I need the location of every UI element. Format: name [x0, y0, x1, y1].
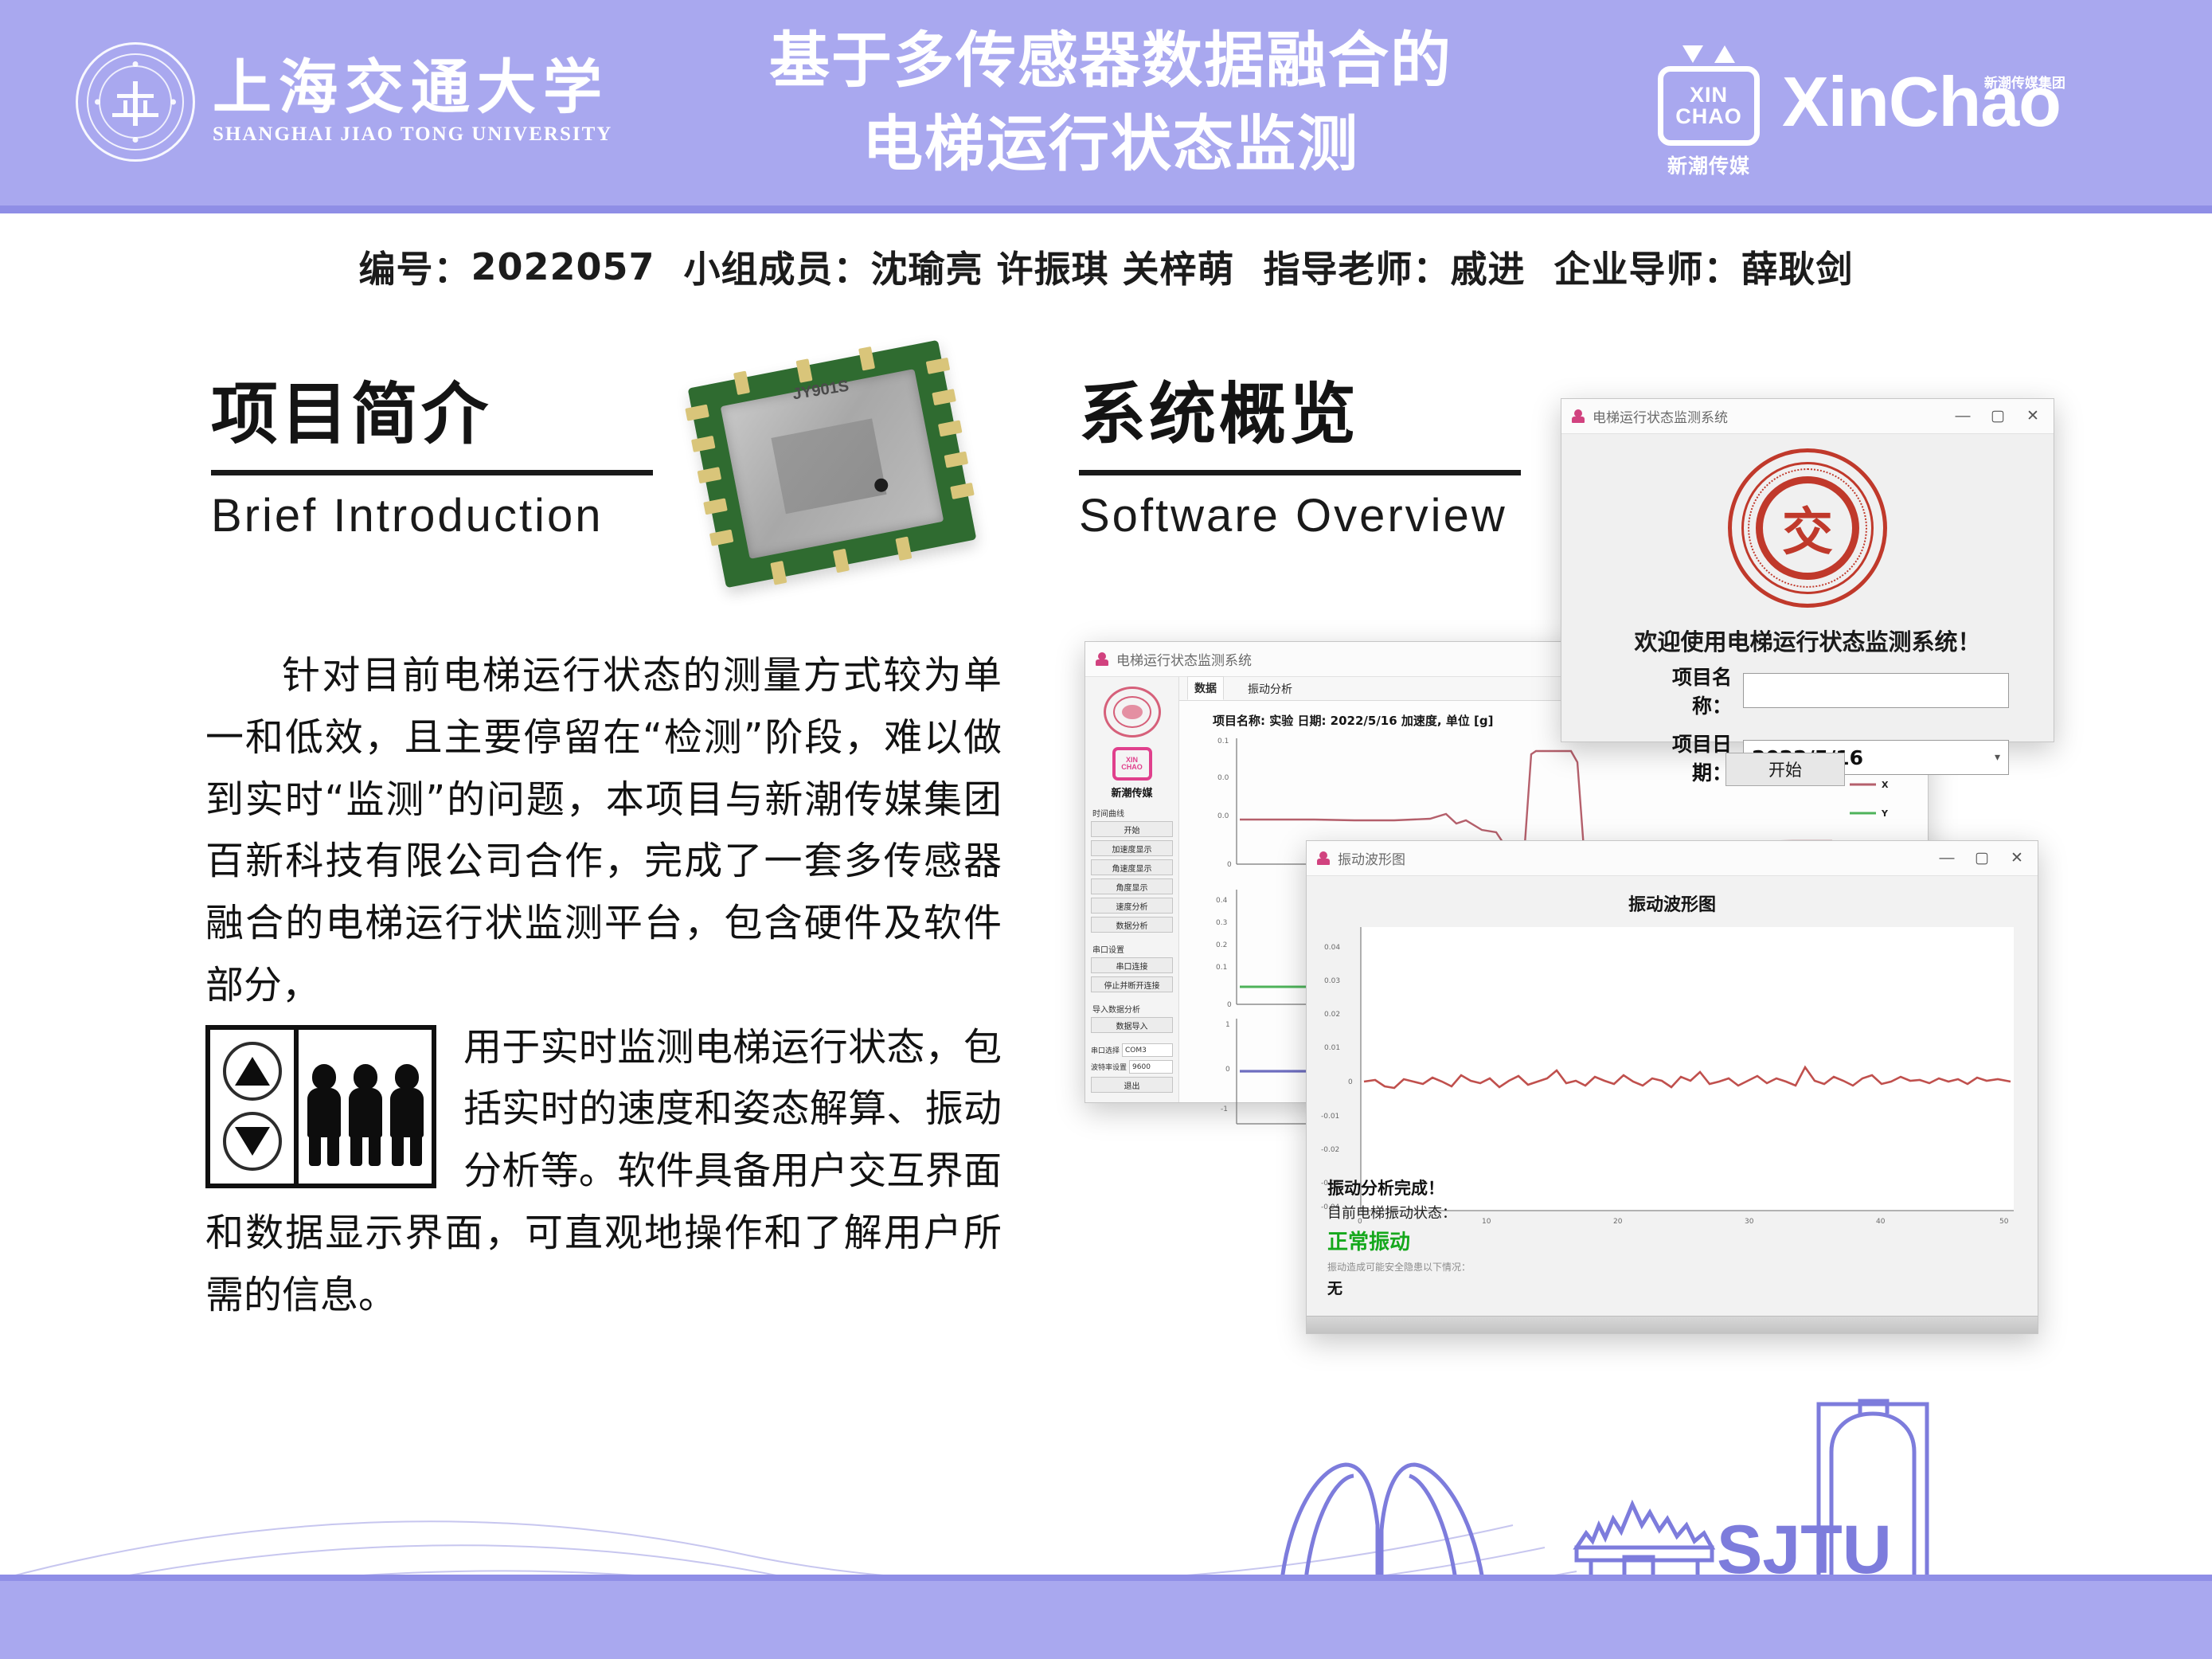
members-value: 沈瑜亮 许振琪 关梓萌	[871, 241, 1235, 293]
tab-data[interactable]: 数据	[1187, 676, 1224, 700]
xinchao-wordmark: XinChao 新潮传媒集团	[1782, 67, 2061, 137]
sidebar-group2-label: 串口设置	[1092, 943, 1173, 955]
welcome-message: 欢迎使用电梯运行状态监测系统！	[1561, 624, 2054, 657]
imu-sensor-photo: JY901S	[681, 335, 991, 597]
system-heading-cn: 系统概览	[1079, 381, 1525, 448]
mentor-value: 薛耿剑	[1741, 241, 1854, 293]
svg-text:-0.01: -0.01	[1321, 1113, 1339, 1121]
chevron-down-icon: ▾	[1995, 751, 2000, 764]
sidebar-button-speed-analysis[interactable]: 速度分析	[1091, 898, 1173, 914]
sidebar-xinchao-icon: XIN CHAO	[1112, 747, 1152, 781]
sidebar-xc-line2: CHAO	[1121, 764, 1143, 771]
vibration-status-bar	[1307, 1316, 2038, 1333]
svg-text:0.4: 0.4	[1216, 897, 1228, 905]
sidebar-group-serial: 串口设置 串口连接 停止并断开连接	[1091, 943, 1173, 996]
advisor-label: 指导老师：	[1264, 241, 1451, 293]
sidebar-button-accel-display[interactable]: 加速度显示	[1091, 840, 1173, 856]
app-icon	[1095, 652, 1109, 667]
sjtu-seal-icon	[76, 42, 195, 162]
page-title: 基于多传感器数据融合的 电梯运行状态监测	[605, 13, 1616, 193]
footer-divider	[0, 1575, 2212, 1581]
elevator-down-button-icon	[223, 1112, 282, 1171]
project-name-label: 项目名称：	[1635, 662, 1743, 719]
brief-section-heading: 项目简介 Brief Introduction	[211, 381, 657, 539]
sidebar-button-data-analysis[interactable]: 数据分析	[1091, 917, 1173, 933]
vibration-plot-title: 振动波形图	[1307, 890, 2038, 916]
svg-text:Y: Y	[1881, 808, 1889, 819]
xinchao-logo: XIN CHAO 新潮传媒 XinChao 新潮传媒集团	[1656, 24, 2150, 180]
system-section-heading: 系统概览 Software Overview	[1079, 381, 1525, 539]
xinchao-box-line2: CHAO	[1675, 106, 1742, 127]
sidebar-baud-label: 波特率设置	[1091, 1062, 1127, 1072]
welcome-window[interactable]: 电梯运行状态监测系统 — ▢ ✕ 交 欢迎使用电梯运行状态监测系统！ 项目名称：…	[1561, 398, 2054, 742]
vibration-note-value: 无	[1327, 1277, 1471, 1298]
sjtu-logo: 上海交通大学 SHANGHAI JIAO TONG UNIVERSITY	[76, 30, 593, 174]
svg-text:0: 0	[1227, 861, 1232, 869]
sidebar-group-timeline: 时间曲线 开始 加速度显示 角速度显示 角度显示 速度分析 数据分析	[1091, 807, 1173, 936]
svg-text:0.01: 0.01	[1324, 1044, 1340, 1052]
vibration-close-button[interactable]: ✕	[1999, 842, 2034, 875]
elevator-arrows-icon	[1669, 34, 1749, 63]
sidebar-button-data-import[interactable]: 数据导入	[1091, 1017, 1173, 1033]
system-heading-rule	[1079, 470, 1521, 475]
svg-text:0.02: 0.02	[1324, 1011, 1340, 1019]
project-id-value: 2022057	[471, 245, 655, 288]
university-name-en: SHANGHAI JIAO TONG UNIVERSITY	[213, 123, 612, 146]
project-name-input[interactable]	[1743, 673, 2009, 708]
main-window-sidebar: XIN CHAO 新潮传媒 时间曲线 开始 加速度显示 角速度显示 角度显示 速…	[1085, 677, 1179, 1102]
welcome-window-title: 电梯运行状态监测系统	[1593, 406, 1945, 426]
page-header: 上海交通大学 SHANGHAI JIAO TONG UNIVERSITY 基于多…	[0, 0, 2212, 205]
sidebar-row-baud-rate[interactable]: 波特率设置 9600	[1091, 1060, 1173, 1074]
welcome-minimize-button[interactable]: —	[1945, 400, 1980, 433]
sidebar-group1-label: 时间曲线	[1092, 807, 1173, 819]
sidebar-com-label: 串口选择	[1091, 1045, 1120, 1055]
svg-text:-1: -1	[1221, 1105, 1228, 1113]
vibration-status-value: 正常振动	[1327, 1226, 1471, 1255]
members-label: 小组成员：	[684, 241, 871, 293]
vibration-minimize-button[interactable]: —	[1929, 842, 1964, 875]
app-icon	[1316, 851, 1331, 866]
svg-text:0.1: 0.1	[1216, 964, 1227, 972]
svg-text:0.1: 0.1	[1217, 738, 1229, 745]
svg-text:1: 1	[1225, 1021, 1230, 1029]
start-button[interactable]: 开始	[1725, 753, 1845, 786]
svg-text:40: 40	[1876, 1218, 1886, 1226]
project-name-field-row: 项目名称：	[1635, 662, 2009, 719]
svg-text:0: 0	[1348, 1078, 1353, 1086]
brief-heading-cn: 项目简介	[211, 381, 657, 448]
sidebar-button-start[interactable]: 开始	[1091, 821, 1173, 837]
svg-text:-0.02: -0.02	[1321, 1146, 1339, 1154]
sidebar-button-serial-connect[interactable]: 串口连接	[1091, 957, 1173, 973]
vibration-note-label: 振动造成可能安全隐患以下情况：	[1327, 1260, 1471, 1274]
vibration-window-titlebar[interactable]: 振动波形图 — ▢ ✕	[1307, 841, 2038, 876]
sidebar-com-value[interactable]: COM3	[1122, 1043, 1173, 1057]
welcome-maximize-button[interactable]: ▢	[1980, 400, 2015, 433]
tab-vibration-analysis[interactable]: 振动分析	[1241, 678, 1299, 700]
brief-heading-en: Brief Introduction	[211, 493, 657, 539]
svg-text:0.2: 0.2	[1216, 941, 1227, 949]
welcome-window-titlebar[interactable]: 电梯运行状态监测系统 — ▢ ✕	[1561, 399, 2054, 434]
vibration-status-panel: 振动分析完成！ 目前电梯振动状态： 正常振动 振动造成可能安全隐患以下情况： 无	[1327, 1176, 1471, 1298]
vibration-status-label: 目前电梯振动状态：	[1327, 1202, 1471, 1223]
sidebar-button-gyro-display[interactable]: 角速度显示	[1091, 859, 1173, 875]
university-name-cn: 上海交通大学	[213, 58, 612, 118]
brief-body-text: 针对目前电梯运行状态的测量方式较为单一和低效，且主要停留在“检测”阶段，难以做到…	[205, 645, 1002, 1326]
sidebar-row-com-port[interactable]: 串口选择 COM3	[1091, 1043, 1173, 1057]
project-meta-bar: 编号： 2022057 小组成员： 沈瑜亮 许振琪 关梓萌 指导老师： 戚进 企…	[0, 231, 2212, 303]
svg-text:0.04: 0.04	[1324, 944, 1340, 952]
brief-paragraph-1: 针对目前电梯运行状态的测量方式较为单一和低效，且主要停留在“检测”阶段，难以做到…	[205, 645, 1002, 1017]
sidebar-button-serial-disconnect[interactable]: 停止并断开连接	[1091, 976, 1173, 992]
svg-text:30: 30	[1745, 1218, 1754, 1226]
sidebar-button-exit[interactable]: 退出	[1091, 1077, 1173, 1093]
brief-heading-rule	[211, 470, 653, 475]
elevator-up-button-icon	[223, 1042, 282, 1101]
welcome-close-button[interactable]: ✕	[2015, 400, 2050, 433]
app-icon	[1571, 409, 1585, 424]
svg-text:50: 50	[1999, 1218, 2009, 1226]
vibration-window-title: 振动波形图	[1338, 848, 1929, 868]
vibration-window[interactable]: 振动波形图 — ▢ ✕ 振动波形图 0.04 0.03 0.02 0.01 0 …	[1306, 840, 2038, 1334]
svg-text:SJTU: SJTU	[1717, 1512, 1892, 1588]
svg-text:0: 0	[1227, 1001, 1232, 1009]
svg-text:0.0: 0.0	[1217, 774, 1229, 782]
page-title-line1: 基于多传感器数据融合的	[769, 19, 1452, 103]
project-id-label: 编号：	[358, 241, 471, 293]
vibration-analysis-done-text: 振动分析完成！	[1327, 1176, 1471, 1199]
sidebar-sjtu-seal-icon	[1104, 687, 1161, 738]
sidebar-group-import: 导入数据分析 数据导入	[1091, 1003, 1173, 1036]
header-divider	[0, 205, 2212, 213]
sidebar-button-angle-display[interactable]: 角度显示	[1091, 878, 1173, 894]
footer-band	[0, 1581, 2212, 1659]
xinchao-sub-text: 新潮传媒集团	[1984, 72, 2065, 92]
svg-text:0.0: 0.0	[1217, 812, 1229, 820]
sidebar-baud-value[interactable]: 9600	[1129, 1060, 1173, 1074]
sidebar-group3-label: 导入数据分析	[1092, 1003, 1173, 1015]
page-title-line2: 电梯运行状态监测	[862, 103, 1359, 186]
vibration-maximize-button[interactable]: ▢	[1964, 842, 1999, 875]
svg-text:20: 20	[1613, 1218, 1623, 1226]
xinchao-name-cn: 新潮传媒	[1656, 151, 1761, 179]
elevator-pictogram-icon	[205, 1025, 436, 1188]
mentor-label: 企业导师：	[1554, 241, 1741, 293]
sidebar-settings-rows: 串口选择 COM3 波特率设置 9600 退出	[1091, 1043, 1173, 1096]
sidebar-brand-label: 新潮传媒	[1111, 785, 1152, 800]
sjtu-red-seal-icon: 交	[1728, 448, 1887, 608]
system-heading-en: Software Overview	[1079, 493, 1525, 539]
xinchao-mark-icon: XIN CHAO 新潮传媒	[1656, 34, 1761, 170]
xinchao-box-line1: XIN	[1690, 84, 1728, 106]
svg-text:10: 10	[1482, 1218, 1491, 1226]
svg-text:0: 0	[1225, 1066, 1230, 1074]
svg-text:0.03: 0.03	[1324, 977, 1340, 985]
svg-text:0.3: 0.3	[1216, 919, 1227, 927]
advisor-value: 戚进	[1451, 241, 1526, 293]
